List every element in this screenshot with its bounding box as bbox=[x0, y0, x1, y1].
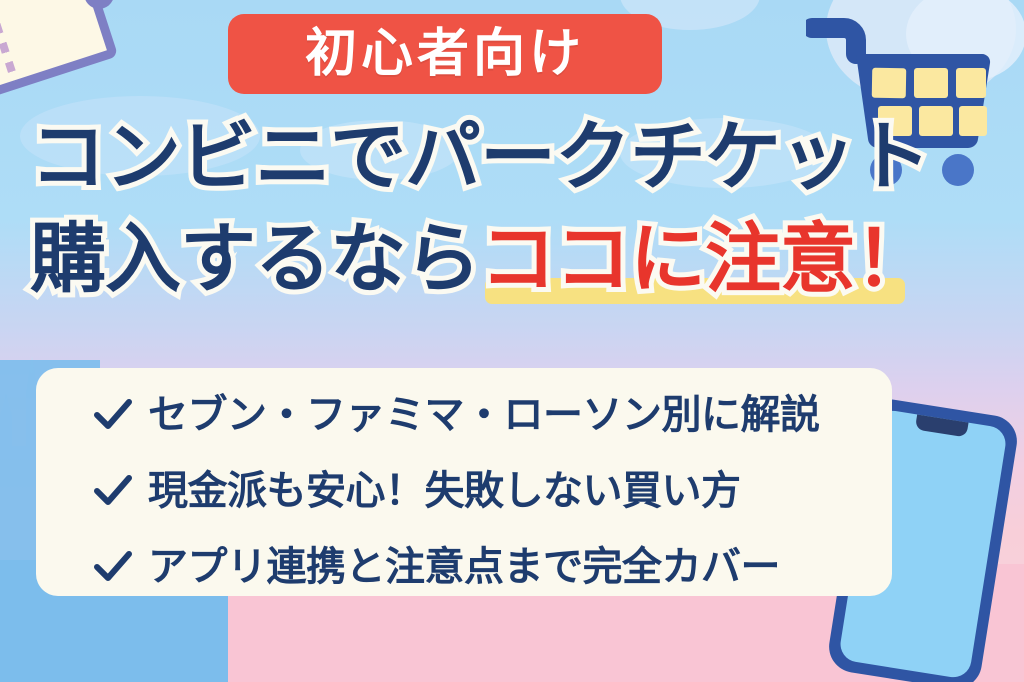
page-title: コンビニでパークチケット 購入するなら ココに注意！ bbox=[30, 104, 994, 312]
headline-line-2-part-1: 購入するなら bbox=[30, 221, 480, 297]
list-item-label: セブン・ファミマ・ローソン別に解説 bbox=[148, 395, 820, 435]
check-icon bbox=[92, 470, 134, 512]
headline-line-2-part-2: ココに注意！ bbox=[480, 221, 930, 297]
headline-line-1: コンビニでパークチケット bbox=[30, 119, 930, 195]
audience-badge: 初心者向け bbox=[228, 14, 662, 94]
check-icon bbox=[92, 546, 134, 588]
audience-badge-label: 初心者向け bbox=[305, 28, 585, 80]
list-item-label: 現金派も安心！失敗しない買い方 bbox=[148, 471, 741, 511]
list-item: 現金派も安心！失敗しない買い方 bbox=[36, 456, 892, 526]
list-item: セブン・ファミマ・ローソン別に解説 bbox=[36, 380, 892, 450]
ticket-icon bbox=[0, 0, 118, 102]
check-icon bbox=[92, 394, 134, 436]
list-item: アプリ連携と注意点まで完全カバー bbox=[36, 532, 892, 602]
feature-list-card: セブン・ファミマ・ローソン別に解説 現金派も安心！失敗しない買い方 アプリ連携と… bbox=[36, 368, 892, 596]
list-item-label: アプリ連携と注意点まで完全カバー bbox=[148, 547, 780, 587]
poster-canvas: 初心者向け コンビニでパークチケット 購入するなら ココに注意！ セブン・ファミ… bbox=[0, 0, 1024, 682]
